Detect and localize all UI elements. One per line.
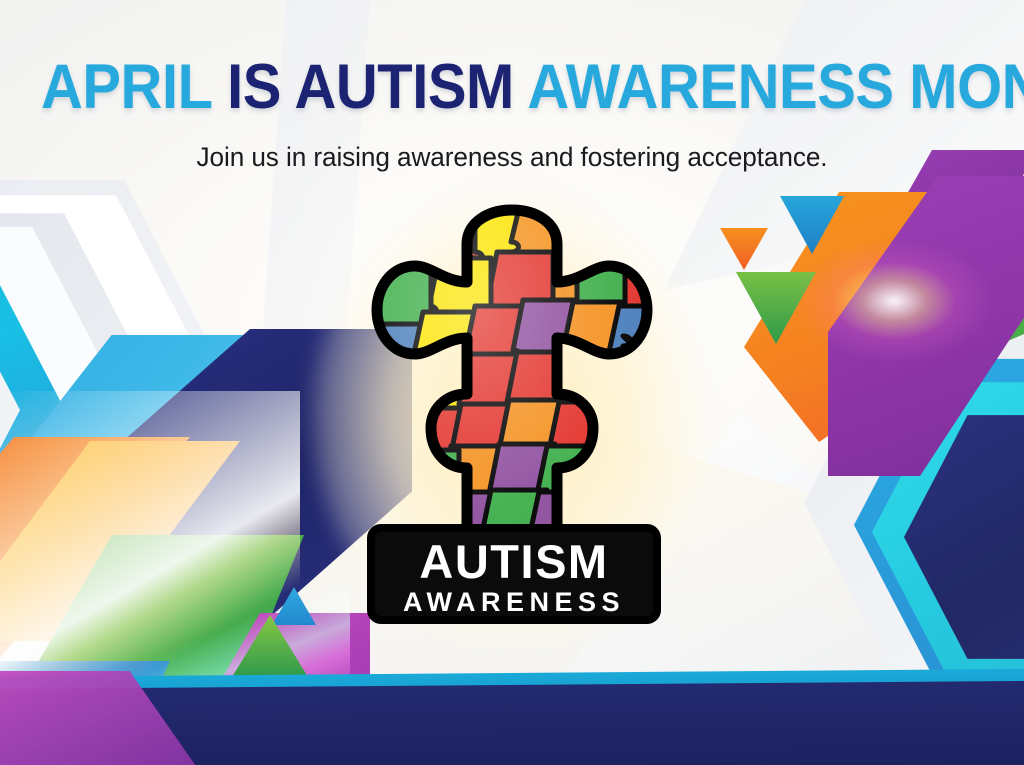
emblem-label-autism: AUTISM [419, 535, 608, 588]
emblem-label-awareness: AWARENESS [403, 587, 625, 617]
headline-part-april: APRIL [41, 52, 227, 122]
page-title: APRIL IS AUTISM AWARENESS MONTH [41, 56, 983, 119]
headline-part-awareness-month: AWARENESS MONTH [527, 52, 1024, 122]
headline-container: APRIL IS AUTISM AWARENESS MONTH [0, 56, 1024, 119]
light-flare-right [790, 236, 990, 366]
subtitle-text: Join us in raising awareness and fosteri… [15, 142, 1008, 173]
headline-part-is-autism: IS AUTISM [227, 52, 527, 122]
puzzle-piece-icon: AUTISM AWARENESS [347, 196, 677, 636]
poster-canvas: APRIL IS AUTISM AWARENESS MONTH Join us … [0, 0, 1024, 765]
autism-awareness-emblem: AUTISM AWARENESS [347, 196, 677, 636]
triangle-orange-down-icon [720, 228, 768, 270]
